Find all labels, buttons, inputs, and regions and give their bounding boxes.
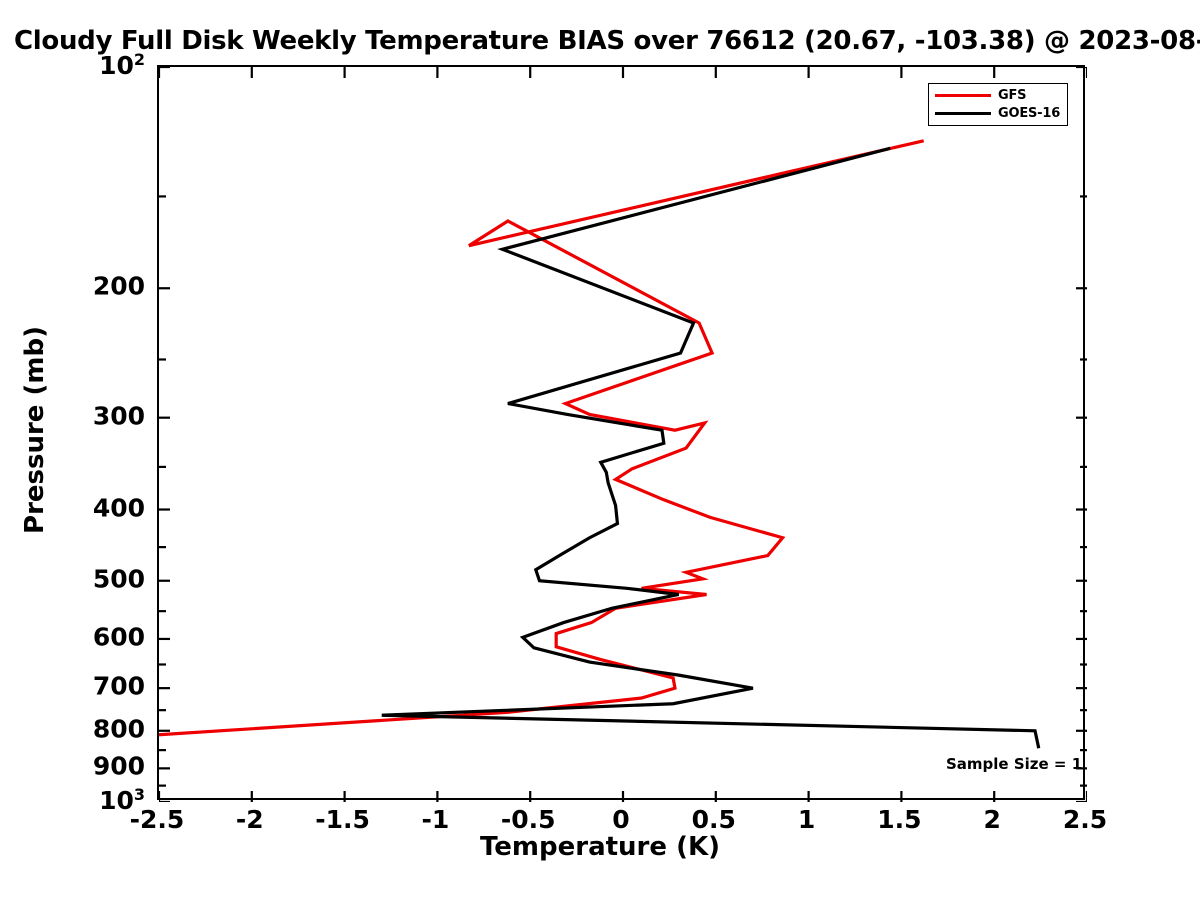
x-tick-label: -1 [422,805,450,834]
y-tick-label: 400 [93,493,145,522]
x-tick-label: 2.5 [1063,805,1107,834]
plot-area [157,65,1085,800]
x-tick-label: 0.5 [692,805,736,834]
legend-color-swatch [935,94,991,97]
x-tick-label: 2 [983,805,1000,834]
y-tick-label: 200 [93,272,145,301]
legend-label: GFS [998,88,1026,103]
y-tick-label: 600 [93,622,145,651]
axis-ticks [159,67,1087,802]
y-tick-label: 500 [93,564,145,593]
y-tick-label: 300 [93,401,145,430]
sample-size-annotation: Sample Size = 1 [946,755,1082,773]
y-tick-label: 800 [93,714,145,743]
y-tick-label: 103 [99,785,145,815]
x-tick-label: 1.5 [877,805,921,834]
legend-item[interactable]: GOES-16 [935,106,1060,121]
series-line-gfs [159,141,924,735]
x-tick-label: 0 [612,805,629,834]
chart-figure: Cloudy Full Disk Weekly Temperature BIAS… [0,0,1200,900]
legend-label: GOES-16 [998,106,1060,121]
x-axis-title: Temperature (K) [0,832,1200,862]
x-tick-label: 1 [798,805,815,834]
y-tick-label: 900 [93,752,145,781]
y-tick-label: 102 [99,50,145,80]
y-axis-title: Pressure (mb) [20,200,50,660]
data-lines-svg [159,67,1087,802]
legend-color-swatch [935,112,991,115]
x-tick-label: -1.5 [315,805,370,834]
x-tick-label: -2 [236,805,264,834]
x-tick-label: -0.5 [501,805,556,834]
legend-item[interactable]: GFS [935,88,1060,103]
series-group [159,141,1039,748]
legend: GFSGOES-16 [928,83,1068,126]
chart-title: Cloudy Full Disk Weekly Temperature BIAS… [14,26,1200,56]
y-tick-label: 700 [93,672,145,701]
